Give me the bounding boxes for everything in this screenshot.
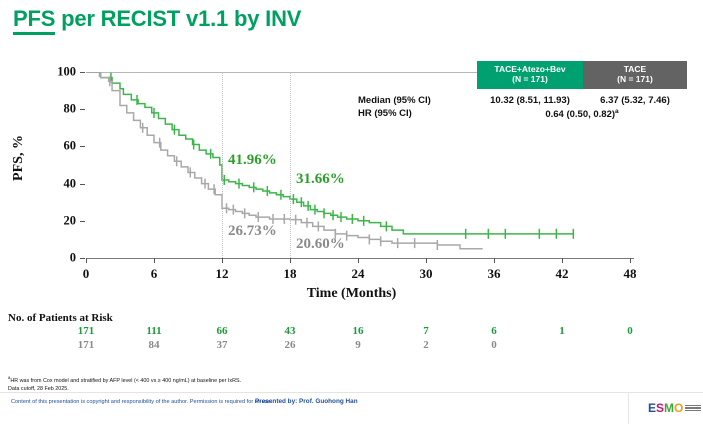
hr-row-label: HR (95% CI) <box>358 108 412 119</box>
legend-arm-b-n: (N = 171) <box>617 74 653 84</box>
x-tick-label: 24 <box>352 266 365 282</box>
risk-table-cell: 9 <box>355 339 361 351</box>
x-tick <box>630 258 631 263</box>
reference-line <box>222 72 223 258</box>
y-tick-label: 60 <box>42 139 76 154</box>
bottom-bar: Content of this presentation is copyrigh… <box>0 392 703 424</box>
curve-annotation: 20.60% <box>296 236 345 253</box>
median-value-arm-b: 6.37 (5.32, 7.46) <box>583 95 687 106</box>
legend-arm-a-name: TACE+Atezo+Bev <box>494 64 565 74</box>
y-tick-label: 40 <box>42 176 76 191</box>
risk-table-cell: 26 <box>285 339 296 351</box>
esmo-logo: ESMO <box>648 399 701 417</box>
median-value-arm-a: 10.32 (8.51, 11.93) <box>477 95 583 106</box>
risk-table-cell: 16 <box>353 325 364 337</box>
risk-table-cell: 0 <box>627 325 633 337</box>
y-tick <box>80 72 85 73</box>
esmo-logo-letter: O <box>674 401 683 415</box>
risk-table-cell: 171 <box>78 325 95 337</box>
risk-table-cell: 43 <box>285 325 296 337</box>
x-tick-label: 48 <box>624 266 637 282</box>
x-tick <box>426 258 427 263</box>
x-tick-label: 42 <box>556 266 569 282</box>
y-tick-label: 0 <box>42 251 76 266</box>
logo-divider <box>628 393 629 424</box>
x-tick <box>222 258 223 263</box>
x-tick <box>358 258 359 263</box>
esmo-logo-letter: M <box>664 401 674 415</box>
y-tick <box>80 221 85 222</box>
esmo-logo-letters: ESMO <box>648 399 683 417</box>
curve-annotation: 31.66% <box>296 171 345 188</box>
y-tick-label: 80 <box>42 102 76 117</box>
legend-arm-b-name: TACE <box>624 64 647 74</box>
esmo-logo-bars <box>685 405 701 412</box>
x-tick-label: 0 <box>83 266 90 282</box>
hr-value-text: 0.64 (0.50, 0.82) <box>545 109 615 120</box>
hr-footnote-marker: a <box>615 108 619 115</box>
risk-table-cell: 84 <box>149 339 160 351</box>
y-tick <box>80 258 85 259</box>
legend-header-arm-b: TACE (N = 171) <box>583 61 687 89</box>
legend-header-arm-a: TACE+Atezo+Bev (N = 171) <box>477 61 583 89</box>
y-tick-label: 100 <box>42 65 76 80</box>
esmo-logo-letter: S <box>656 401 664 415</box>
page-title-rest: per RECIST v1.1 by INV <box>55 6 301 31</box>
page-title: PFS per RECIST v1.1 by INV <box>13 6 301 32</box>
x-tick-label: 36 <box>488 266 501 282</box>
page-title-underlined: PFS <box>13 6 55 35</box>
risk-table-cell: 0 <box>491 339 497 351</box>
legend-table: TACE+Atezo+Bev (N = 171) TACE (N = 171) <box>477 61 687 89</box>
x-tick <box>494 258 495 263</box>
x-tick <box>290 258 291 263</box>
risk-table-cell: 1 <box>559 325 565 337</box>
curve-annotation: 41.96% <box>228 152 277 169</box>
x-tick-label: 12 <box>216 266 229 282</box>
footnote-line-1: HR was from Cox model and stratified by … <box>10 378 241 384</box>
curve-annotation: 26.73% <box>228 223 277 240</box>
esmo-logo-letter: E <box>648 401 656 415</box>
risk-table-cell: 2 <box>423 339 429 351</box>
y-tick <box>80 109 85 110</box>
hr-value: 0.64 (0.50, 0.82)a <box>477 108 687 120</box>
x-tick-label: 18 <box>284 266 297 282</box>
x-tick <box>154 258 155 263</box>
footnote: aHR was from Cox model and stratified by… <box>8 375 241 394</box>
risk-table-cell: 37 <box>217 339 228 351</box>
risk-table-title: No. of Patients at Risk <box>8 312 113 324</box>
presenter-text: Presented by: Prof. Guohong Han <box>255 398 358 405</box>
legend-arm-a-n: (N = 171) <box>512 74 548 84</box>
x-tick-label: 6 <box>151 266 158 282</box>
risk-table-cell: 111 <box>146 325 161 337</box>
risk-table-cell: 6 <box>491 325 497 337</box>
y-tick <box>80 146 85 147</box>
risk-table-cell: 66 <box>217 325 228 337</box>
risk-table-cell: 7 <box>423 325 429 337</box>
x-tick-label: 30 <box>420 266 433 282</box>
x-axis-label: Time (Months) <box>0 286 703 302</box>
y-tick <box>80 184 85 185</box>
y-tick-label: 20 <box>42 213 76 228</box>
y-axis-label: PFS, % <box>11 135 27 181</box>
median-row-label: Median (95% CI) <box>358 95 431 106</box>
reference-line <box>290 72 291 258</box>
copyright-text: Content of this presentation is copyrigh… <box>11 399 272 405</box>
x-tick <box>86 258 87 263</box>
risk-table-cell: 171 <box>78 339 95 351</box>
slide-root: PFS per RECIST v1.1 by INV PFS, % Time (… <box>0 0 703 423</box>
x-tick <box>562 258 563 263</box>
